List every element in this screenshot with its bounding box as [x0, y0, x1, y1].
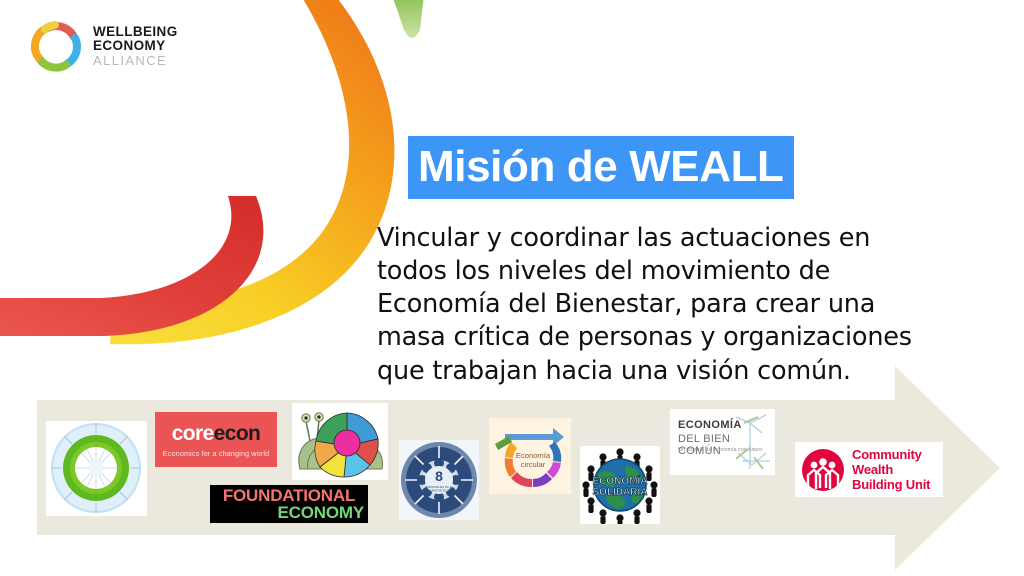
logo-line-2: ECONOMY [93, 39, 178, 53]
bien-comun-line-1: ECONOMÍA [678, 419, 742, 431]
cwb-line-3: Building Unit [852, 477, 930, 492]
economy-word: ECONOMY [278, 504, 364, 522]
regen-number: 8 [435, 468, 443, 484]
regenerative-economy-8-principles: 8 PRINCIPLES OF A REGENERATIVE ECONOMY [399, 440, 479, 520]
cwb-people-icon [801, 448, 845, 492]
solidaria-line-1: ECONOMÍA [593, 474, 648, 487]
foundational-economy-logo: FOUNDATIONAL ECONOMY [210, 485, 368, 523]
bien-comun-line-2: DEL BIEN COMÚN [678, 433, 775, 457]
swoosh-red-arc [0, 196, 263, 336]
economia-circular-diagram: Economía circular [489, 418, 571, 494]
coreecon-word-core: core [172, 422, 214, 445]
logo-line-1: WELLBEING [93, 25, 178, 39]
community-wealth-building-unit-logo: Community Wealth Building Unit [795, 442, 943, 497]
doughnut-economics-diagram [46, 421, 147, 516]
degrowth-snail-logo [292, 403, 388, 480]
coreecon-wordmark: coreecon [172, 422, 261, 446]
coreecon-tagline: Economics for a changing world [163, 449, 269, 458]
coreecon-logo: coreecon Economics for a changing world [155, 412, 277, 467]
cwb-wordmark: Community Wealth Building Unit [852, 447, 930, 493]
page-title-text: Misión de WEALL [408, 136, 794, 199]
circular-label-1: Economía [516, 451, 551, 460]
svg-text:REGENERATIVE ECONOMY: REGENERATIVE ECONOMY [419, 489, 459, 493]
weall-ring-icon [30, 20, 82, 72]
wellbeing-economy-alliance-logo: WELLBEING ECONOMY ALLIANCE [30, 20, 178, 72]
economia-solidaria-logo: ECONOMÍA SOLIDARIA [580, 446, 660, 524]
page-title: Misión de WEALL [408, 136, 794, 199]
logo-line-3: ALLIANCE [93, 54, 178, 67]
slide-canvas: WELLBEING ECONOMY ALLIANCE Misión de WEA… [0, 0, 1024, 576]
circular-label-2: circular [521, 460, 546, 469]
bien-comun-tagline: Un modelo de economía con futuro [678, 447, 762, 453]
foundational-word: FOUNDATIONAL [223, 487, 355, 504]
solidaria-line-2: SOLIDARIA [593, 487, 648, 498]
coreecon-word-econ: econ [214, 422, 261, 445]
cwb-line-1: Community [852, 447, 930, 462]
economia-del-bien-comun-logo: ECONOMÍA DEL BIEN COMÚN Un modelo de eco… [670, 409, 775, 475]
cwb-line-2: Wealth [852, 462, 930, 477]
swoosh-green-sliver [392, 0, 424, 38]
